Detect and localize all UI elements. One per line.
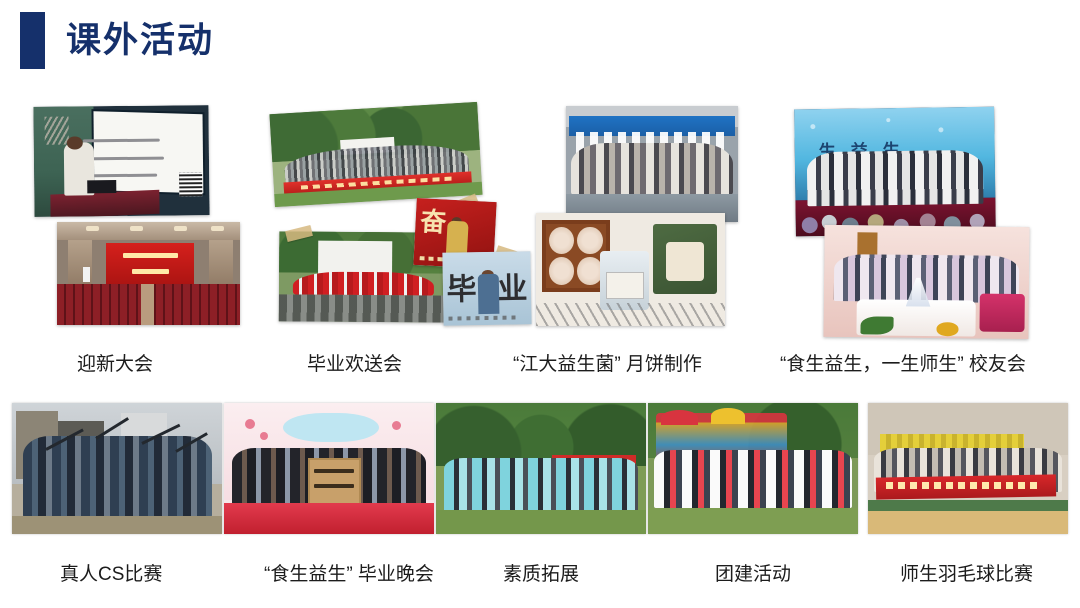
caption-quality-expansion: 素质拓展 <box>503 559 579 586</box>
caption-mooncake-making: “江大益生菌” 月饼制作 <box>513 349 702 376</box>
grad-poster-char-right: 业 <box>497 263 528 308</box>
graduation-party-photo <box>224 403 434 534</box>
caption-graduation-party: “食生益生” 毕业晚会 <box>264 559 434 586</box>
slide-canvas: 课外活动 奋 <box>0 0 1080 608</box>
caption-welcome-ceremony: 迎新大会 <box>77 349 153 376</box>
red-poster-char: 奋 <box>420 201 448 239</box>
cs-team-photo <box>12 403 222 534</box>
classroom-blue-banner-photo <box>566 106 738 222</box>
speaker-podium-photo <box>33 105 209 217</box>
caption-graduation-farewell: 毕业欢送会 <box>307 349 402 376</box>
grad-poster-char-left: 毕 <box>446 264 477 309</box>
team-building-photo <box>648 403 858 534</box>
group-banner-photo <box>269 102 482 207</box>
caption-alumni-reunion: “食生益生，一生师生” 校友会 <box>780 349 1026 376</box>
graduation-poster-photo: 毕 业 <box>442 251 531 326</box>
caption-cs-match: 真人CS比赛 <box>60 559 162 586</box>
stage-ceremony-photo: 生益生 <box>794 107 996 237</box>
outdoor-training-photo <box>436 403 646 534</box>
page-title: 课外活动 <box>66 23 214 58</box>
auditorium-photo <box>57 222 240 325</box>
slide-title-block: 课外活动 <box>20 12 214 69</box>
alumni-banquet-photo <box>823 225 1029 339</box>
caption-badminton-match: 师生羽毛球比赛 <box>900 559 1033 586</box>
caption-team-building: 团建活动 <box>715 559 791 586</box>
badminton-photo <box>868 403 1068 534</box>
mooncake-boxes-photo <box>536 213 725 326</box>
title-accent-bar <box>20 12 45 69</box>
